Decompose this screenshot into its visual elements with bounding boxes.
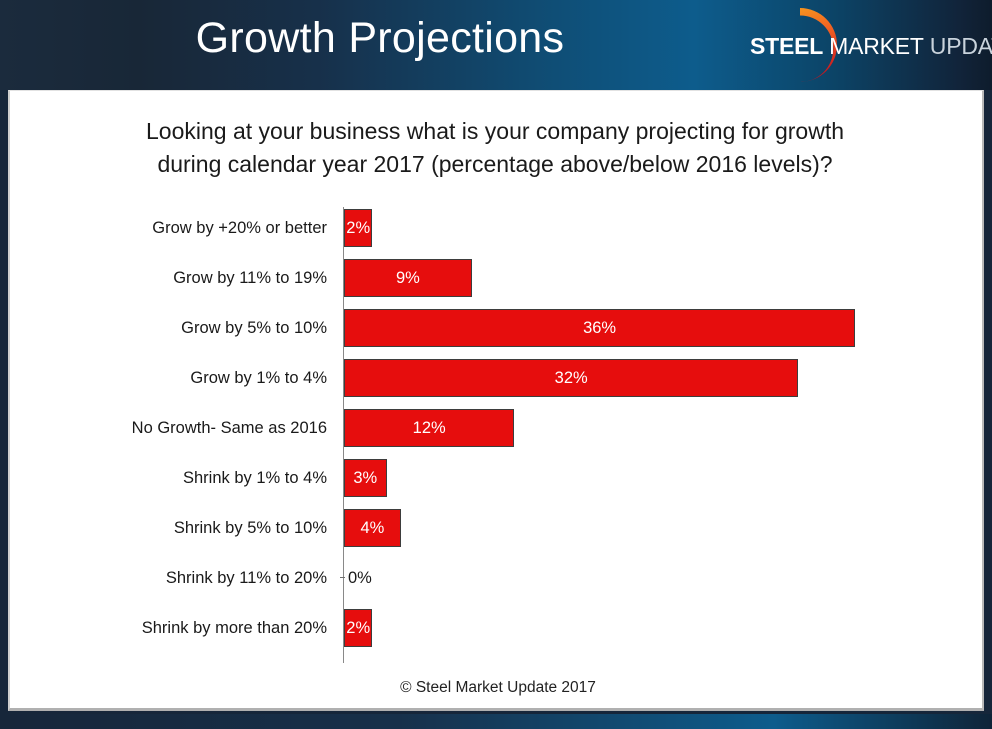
bar[interactable]: [344, 359, 798, 397]
bar[interactable]: [344, 459, 387, 497]
bar[interactable]: [344, 209, 372, 247]
bar-track: 9%: [344, 253, 974, 303]
bar-track: 36%: [344, 303, 974, 353]
category-label: Grow by 5% to 10%: [10, 303, 335, 353]
logo-word-steel: STEEL: [750, 33, 823, 59]
content-panel: Looking at your business what is your co…: [8, 90, 984, 711]
category-label: No Growth- Same as 2016: [10, 403, 335, 453]
bar-value-label: 0%: [348, 559, 398, 597]
bar-row: Grow by 1% to 4%32%: [10, 353, 986, 403]
bar-chart-plot-area: Grow by +20% or better2%Grow by 11% to 1…: [10, 203, 986, 673]
bar-track: 2%: [344, 203, 974, 253]
bar-track: 0%: [344, 553, 974, 603]
bottom-accent-band: [0, 714, 992, 729]
zero-tick-mark: [340, 577, 345, 578]
bar-track: 12%: [344, 403, 974, 453]
bar-row: Grow by +20% or better2%: [10, 203, 986, 253]
bar-row: Shrink by 1% to 4%3%: [10, 453, 986, 503]
page-title: Growth Projections: [0, 14, 760, 63]
copyright-notice: © Steel Market Update 2017: [10, 679, 986, 697]
category-label: Grow by 1% to 4%: [10, 353, 335, 403]
chart-title-line-1: Looking at your business what is your co…: [50, 115, 940, 148]
chart-title: Looking at your business what is your co…: [50, 115, 940, 181]
bar-track: 3%: [344, 453, 974, 503]
bar-row: Grow by 5% to 10%36%: [10, 303, 986, 353]
bar[interactable]: [344, 309, 855, 347]
bar-row: Shrink by more than 20%2%: [10, 603, 986, 653]
bar-row: Shrink by 11% to 20%0%: [10, 553, 986, 603]
bar[interactable]: [344, 259, 472, 297]
bar-row: No Growth- Same as 201612%: [10, 403, 986, 453]
header-banner: Growth Projections STEELMARKETUPDATE: [0, 0, 992, 90]
bar-row: Shrink by 5% to 10%4%: [10, 503, 986, 553]
category-label: Grow by +20% or better: [10, 203, 335, 253]
logo-word-market: MARKET: [829, 33, 924, 59]
category-label: Shrink by 5% to 10%: [10, 503, 335, 553]
logo-word-update: UPDATE: [930, 33, 992, 59]
bar-row: Grow by 11% to 19%9%: [10, 253, 986, 303]
bar[interactable]: [344, 609, 372, 647]
bar-track: 2%: [344, 603, 974, 653]
category-label: Shrink by 1% to 4%: [10, 453, 335, 503]
bar-track: 32%: [344, 353, 974, 403]
bar-track: 4%: [344, 503, 974, 553]
category-label: Grow by 11% to 19%: [10, 253, 335, 303]
slide-root: Growth Projections STEELMARKETUPDATE: [0, 0, 992, 729]
steel-market-update-logo: STEELMARKETUPDATE: [740, 6, 990, 84]
logo-wordmark: STEELMARKETUPDATE: [750, 32, 992, 60]
chart-title-line-2: during calendar year 2017 (percentage ab…: [50, 148, 940, 181]
category-label: Shrink by more than 20%: [10, 603, 335, 653]
category-label: Shrink by 11% to 20%: [10, 553, 335, 603]
bar[interactable]: [344, 409, 514, 447]
bar[interactable]: [344, 509, 401, 547]
